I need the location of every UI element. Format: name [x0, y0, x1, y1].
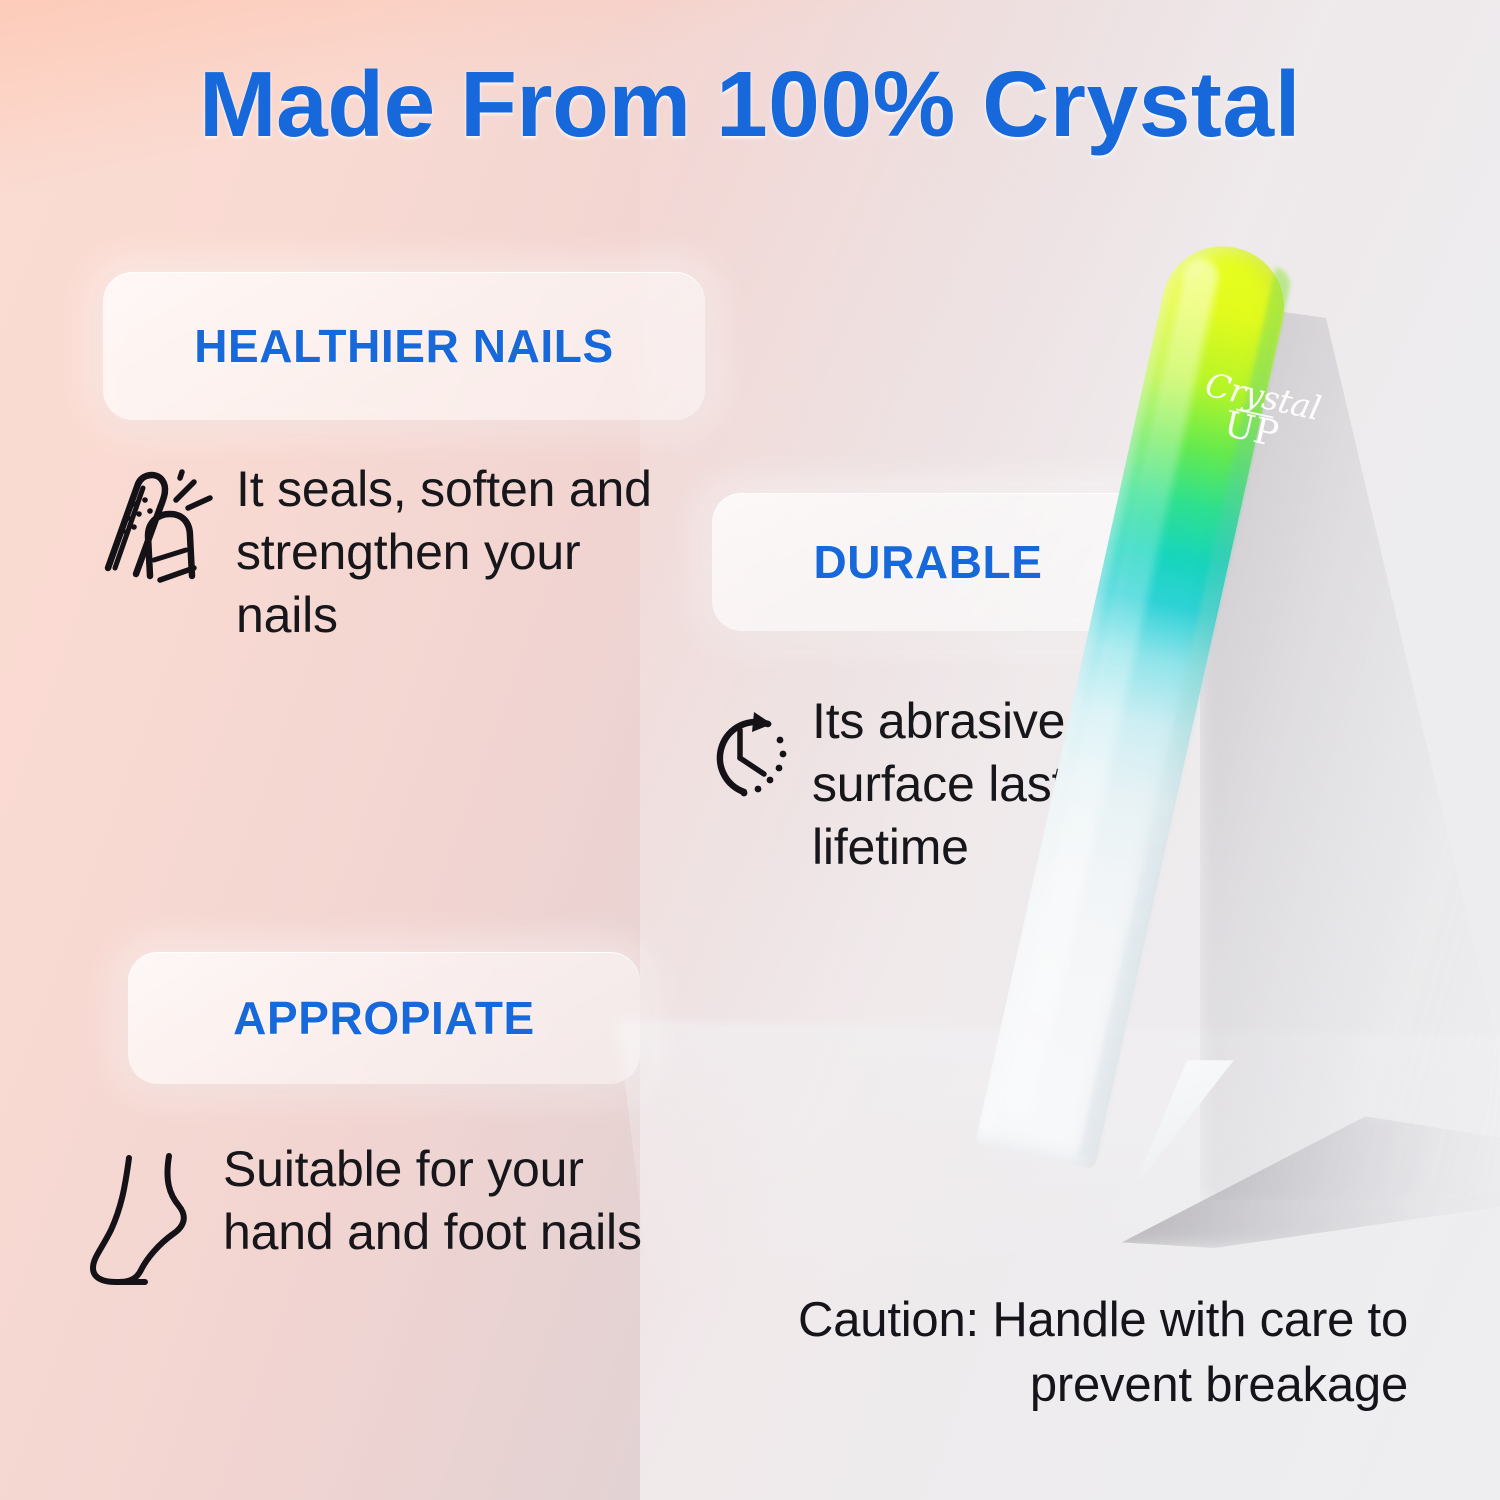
caution-note: Caution: Handle with care to prevent bre… — [668, 1288, 1408, 1417]
brand-logo-rule — [1236, 409, 1274, 419]
badge-appropiate: APPROPIATE — [128, 952, 640, 1084]
foot-icon — [85, 1146, 205, 1291]
feature-durable: Its abrasive surface last a lifetime — [690, 690, 1160, 879]
badge-label: APPROPIATE — [233, 991, 535, 1045]
badge-healthier-nails: HEALTHIER NAILS — [103, 272, 705, 420]
clock-arrow-icon — [690, 702, 798, 815]
nail-file-icon — [98, 464, 218, 589]
brand-logo-crystal-up: Crystal UP — [1185, 370, 1314, 501]
badge-label: HEALTHIER NAILS — [194, 319, 614, 373]
badge-durable: DURABLE — [712, 493, 1144, 631]
badge-label: DURABLE — [813, 535, 1042, 589]
feature-description: It seals, soften and strengthen your nai… — [236, 458, 676, 647]
feature-appropiate: Suitable for your hand and foot nails — [85, 1138, 665, 1291]
headline-part-light: Made From — [199, 52, 716, 156]
product-tapered-base — [1104, 1060, 1234, 1190]
brand-logo-line2: UP — [1195, 402, 1308, 459]
headline-part-heavy: 100% Crystal — [716, 52, 1301, 156]
feature-healthier-nails: It seals, soften and strengthen your nai… — [98, 458, 698, 647]
product-feature-poster: Made From 100% Crystal HEALTHIER NAILS D… — [0, 0, 1500, 1500]
brand-logo-line1: Crystal — [1203, 370, 1315, 423]
feature-description: Its abrasive surface last a lifetime — [812, 690, 1152, 879]
product-floor-shadow — [1105, 1108, 1500, 1248]
feature-description: Suitable for your hand and foot nails — [223, 1138, 643, 1264]
product-cast-shadow — [1200, 300, 1500, 1200]
page-title: Made From 100% Crystal — [0, 58, 1500, 151]
